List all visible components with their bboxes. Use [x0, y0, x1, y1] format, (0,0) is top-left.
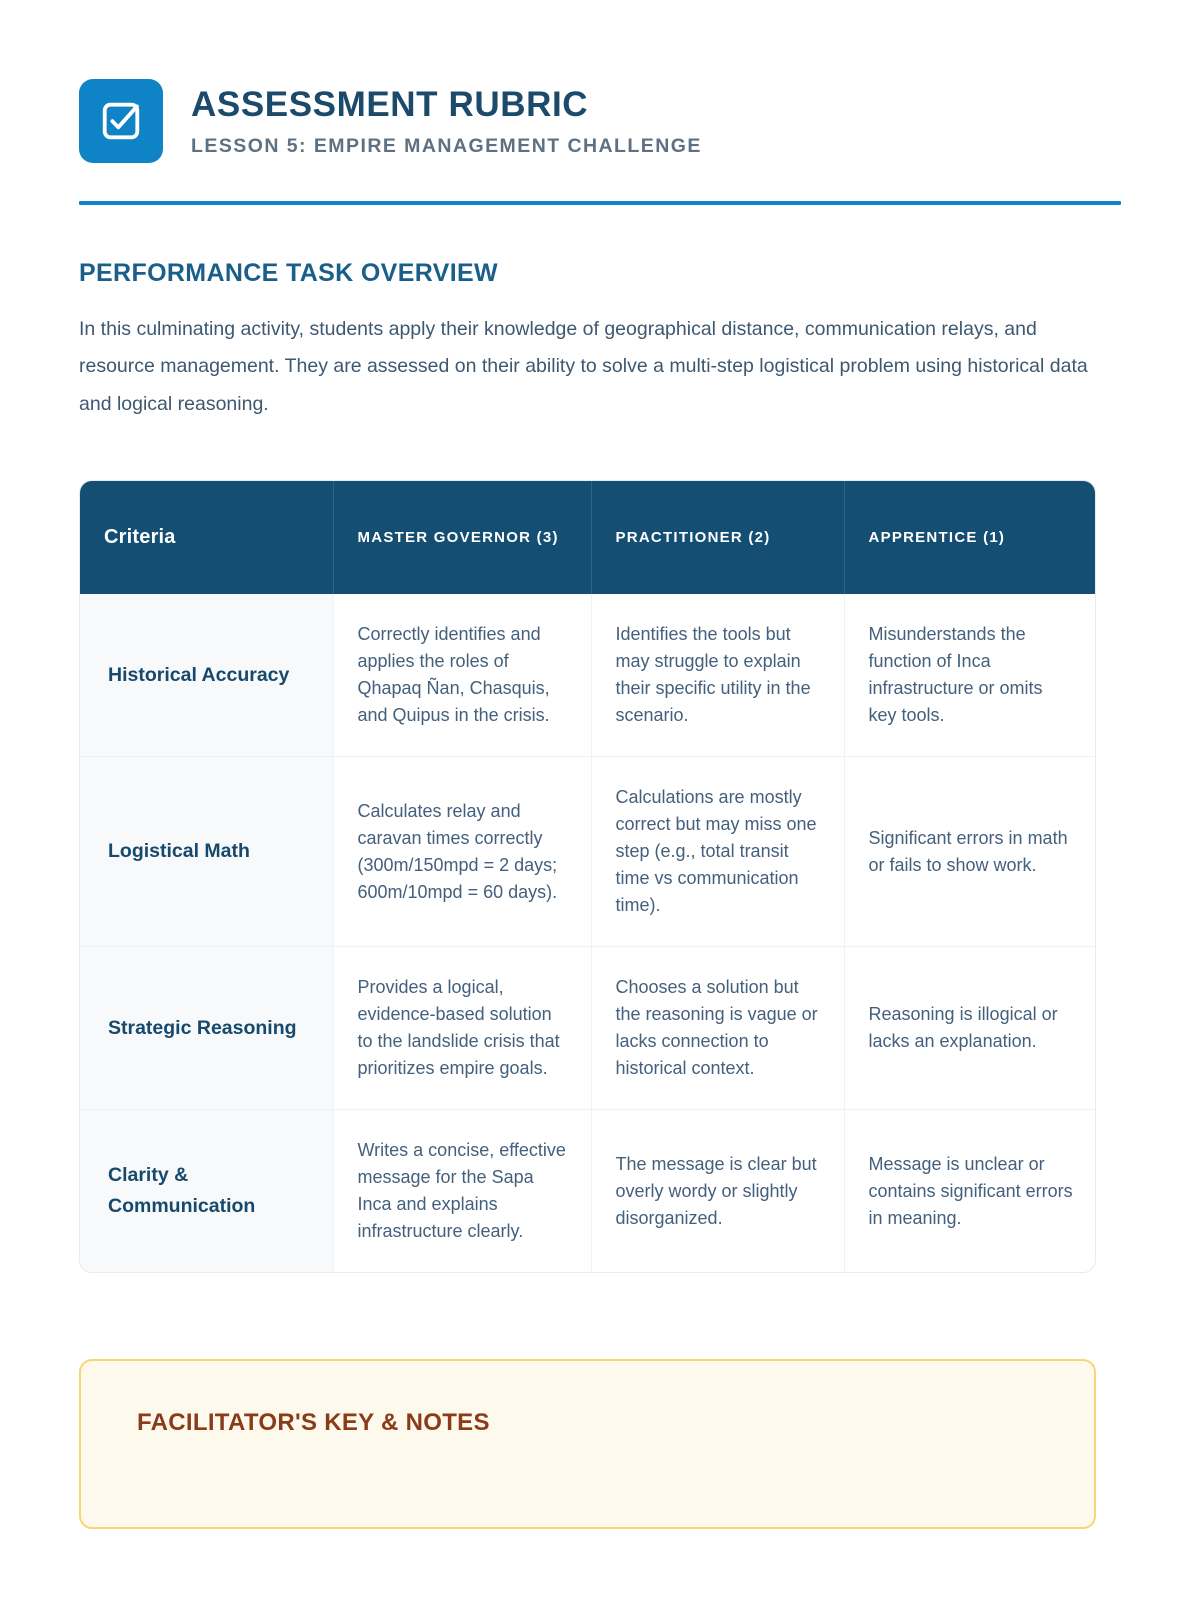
rubric-table: Criteria MASTER GOVERNOR (3) PRACTITIONE… — [80, 481, 1096, 1272]
overview-section-body: In this culminating activity, students a… — [79, 311, 1109, 423]
rubric-table-head: Criteria MASTER GOVERNOR (3) PRACTITIONE… — [80, 481, 1096, 594]
rubric-table-container: Criteria MASTER GOVERNOR (3) PRACTITIONE… — [79, 480, 1096, 1273]
cell-practitioner: The message is clear but overly wordy or… — [591, 1110, 844, 1273]
cell-apprentice: Reasoning is illogical or lacks an expla… — [844, 947, 1096, 1110]
column-header-apprentice: APPRENTICE (1) — [844, 481, 1096, 594]
rubric-document-page: ASSESSMENT RUBRIC LESSON 5: EMPIRE MANAG… — [0, 0, 1200, 1600]
cell-apprentice: Message is unclear or contains significa… — [844, 1110, 1096, 1273]
cell-practitioner: Identifies the tools but may struggle to… — [591, 594, 844, 757]
cell-master-governor: Calculates relay and caravan times corre… — [333, 757, 591, 947]
header-text-block: ASSESSMENT RUBRIC LESSON 5: EMPIRE MANAG… — [191, 79, 702, 159]
rubric-header-row: Criteria MASTER GOVERNOR (3) PRACTITIONE… — [80, 481, 1096, 594]
rubric-table-body: Historical Accuracy Correctly identifies… — [80, 594, 1096, 1272]
header-divider — [79, 201, 1121, 205]
facilitator-notes-box: FACILITATOR'S KEY & NOTES — [79, 1359, 1096, 1529]
clipboard-check-icon — [79, 79, 163, 163]
cell-practitioner: Chooses a solution but the reasoning is … — [591, 947, 844, 1110]
document-header: ASSESSMENT RUBRIC LESSON 5: EMPIRE MANAG… — [79, 0, 1121, 163]
row-criteria-label: Logistical Math — [80, 757, 333, 947]
row-criteria-label: Historical Accuracy — [80, 594, 333, 757]
page-subtitle: LESSON 5: EMPIRE MANAGEMENT CHALLENGE — [191, 135, 702, 158]
cell-master-governor: Writes a concise, effective message for … — [333, 1110, 591, 1273]
column-header-criteria: Criteria — [80, 481, 333, 594]
row-criteria-label: Clarity & Communication — [80, 1110, 333, 1273]
facilitator-notes-title: FACILITATOR'S KEY & NOTES — [137, 1409, 1038, 1438]
cell-master-governor: Correctly identifies and applies the rol… — [333, 594, 591, 757]
overview-section-heading: PERFORMANCE TASK OVERVIEW — [79, 258, 1121, 288]
cell-apprentice: Misunderstands the function of Inca infr… — [844, 594, 1096, 757]
column-header-practitioner: PRACTITIONER (2) — [591, 481, 844, 594]
cell-master-governor: Provides a logical, evidence-based solut… — [333, 947, 591, 1110]
page-title: ASSESSMENT RUBRIC — [191, 85, 702, 124]
cell-practitioner: Calculations are mostly correct but may … — [591, 757, 844, 947]
table-row: Clarity & Communication Writes a concise… — [80, 1110, 1096, 1273]
table-row: Logistical Math Calculates relay and car… — [80, 757, 1096, 947]
table-row: Historical Accuracy Correctly identifies… — [80, 594, 1096, 757]
cell-apprentice: Significant errors in math or fails to s… — [844, 757, 1096, 947]
column-header-master-governor: MASTER GOVERNOR (3) — [333, 481, 591, 594]
row-criteria-label: Strategic Reasoning — [80, 947, 333, 1110]
table-row: Strategic Reasoning Provides a logical, … — [80, 947, 1096, 1110]
